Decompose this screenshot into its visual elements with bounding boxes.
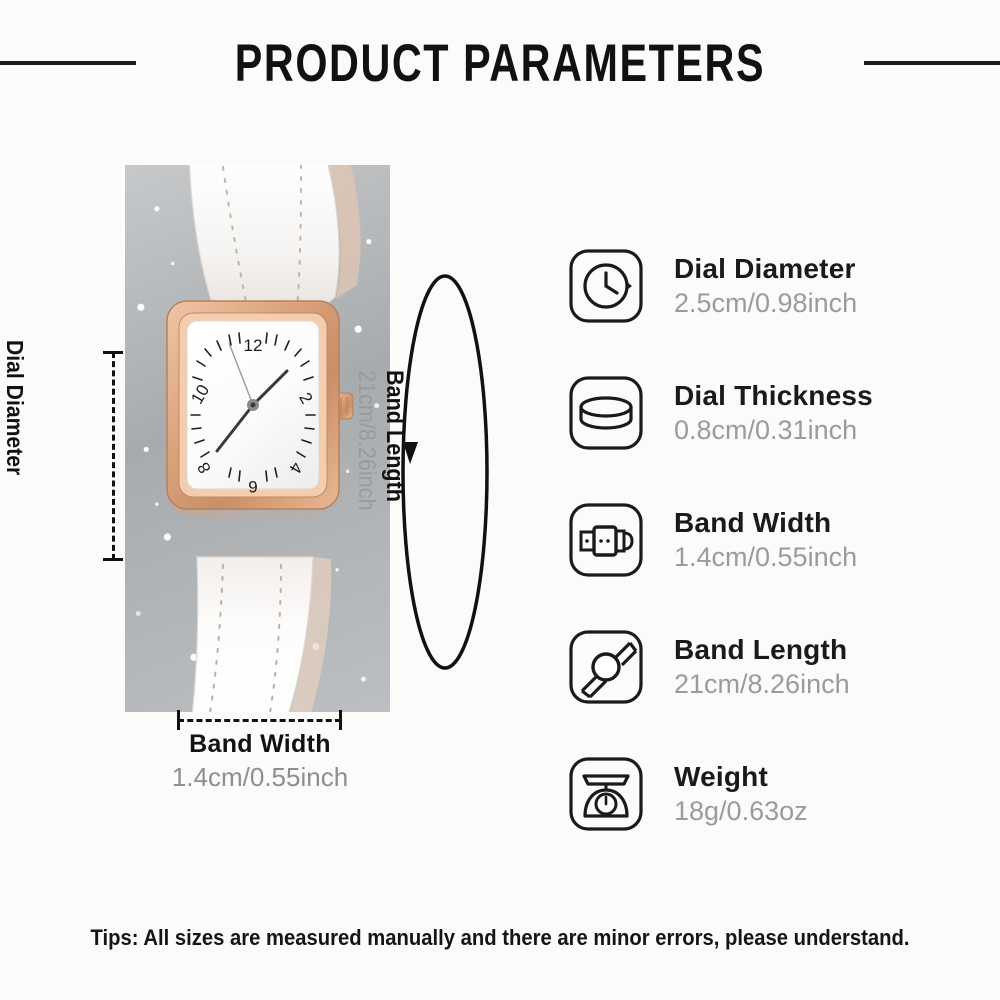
spec-row-dial-thickness: Dial Thickness 0.8cm/0.31inch (568, 375, 968, 451)
band-width-dimension-line (178, 719, 341, 722)
spec-label-dial-diameter: Dial Diameter (674, 252, 857, 285)
spec-row-band-width: Band Width 1.4cm/0.55inch (568, 502, 968, 578)
kitchen-scale-icon (568, 756, 644, 832)
dial-diameter-annotation-value: 2.5cm/0.98inch (0, 340, 1, 484)
svg-text:6: 6 (248, 477, 257, 496)
page-title: PRODUCT PARAMETERS (235, 33, 765, 94)
spec-text-dial-diameter: Dial Diameter 2.5cm/0.98inch (674, 252, 857, 319)
spec-value-band-width: 1.4cm/0.55inch (674, 541, 857, 573)
band-width-cap-left (177, 710, 180, 730)
dial-diameter-cap-top (103, 351, 123, 354)
band-width-cap-right (339, 710, 342, 730)
spec-label-band-width: Band Width (674, 506, 857, 539)
spec-text-weight: Weight 18g/0.63oz (674, 760, 808, 827)
spec-row-weight: Weight 18g/0.63oz (568, 756, 968, 832)
title-rule-right (864, 61, 1000, 65)
page-header: PRODUCT PARAMETERS (0, 28, 1000, 98)
watch-illustration: 12 2 4 6 8 10 (125, 165, 390, 712)
spec-row-dial-diameter: Dial Diameter 2.5cm/0.98inch (568, 248, 968, 324)
band-length-loop-arrow (398, 272, 493, 672)
band-width-annotation: Band Width 1.4cm/0.55inch (120, 730, 400, 793)
dial-diameter-annotation-label: Dial Diameter (1, 340, 28, 475)
spec-value-dial-diameter: 2.5cm/0.98inch (674, 287, 857, 319)
spec-value-dial-thickness: 0.8cm/0.31inch (674, 414, 873, 446)
band-width-annotation-value: 1.4cm/0.55inch (120, 762, 400, 793)
dial-diameter-annotation: Dial Diameter 2.5cm/0.98inch (0, 340, 28, 580)
dial-diameter-dimension-line (112, 352, 115, 560)
watch-strap-icon (568, 629, 644, 705)
tips-note: Tips: All sizes are measured manually an… (40, 925, 960, 951)
spec-label-weight: Weight (674, 760, 808, 793)
watch-dial-icon (568, 248, 644, 324)
band-length-annotation-label: Band Length (380, 370, 408, 510)
dial-diameter-cap-bottom (103, 558, 123, 561)
spec-text-band-width: Band Width 1.4cm/0.55inch (674, 506, 857, 573)
svg-text:12: 12 (244, 336, 263, 355)
band-length-annotation: Band Length 21cm/8.26inch (352, 370, 408, 526)
title-rule-left (0, 61, 136, 65)
spec-label-dial-thickness: Dial Thickness (674, 379, 873, 412)
spec-value-weight: 18g/0.63oz (674, 795, 808, 827)
spec-label-band-length: Band Length (674, 633, 850, 666)
product-photo: 12 2 4 6 8 10 (125, 165, 390, 712)
band-width-annotation-label: Band Width (120, 730, 400, 759)
disc-thickness-icon (568, 375, 644, 451)
spec-text-band-length: Band Length 21cm/8.26inch (674, 633, 850, 700)
watch-buckle-icon (568, 502, 644, 578)
band-length-annotation-value: 21cm/8.26inch (352, 370, 380, 510)
spec-value-band-length: 21cm/8.26inch (674, 668, 850, 700)
spec-text-dial-thickness: Dial Thickness 0.8cm/0.31inch (674, 379, 873, 446)
specifications-list: Dial Diameter 2.5cm/0.98inch Dial Thickn… (568, 248, 968, 883)
spec-row-band-length: Band Length 21cm/8.26inch (568, 629, 968, 705)
